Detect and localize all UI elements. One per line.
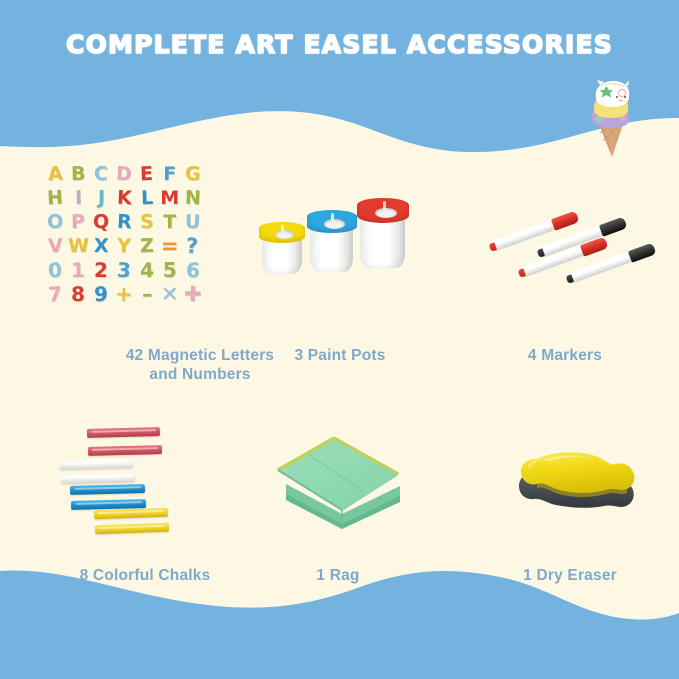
magnet-tile: ✚ xyxy=(183,283,201,306)
magnet-tile: A xyxy=(47,163,63,186)
magnet-tile: – xyxy=(141,283,152,305)
magnet-tile: 6 xyxy=(185,259,200,281)
magnet-tile: Y xyxy=(117,235,132,258)
magnet-tile: R xyxy=(116,211,132,234)
magnet-tile: 1 xyxy=(71,259,85,281)
magnetic-letters-grid: ABCDEFGHIJKLMNOPQRSTUVWXYZ=?0123456789+–… xyxy=(44,163,204,305)
chalk-yellow-1 xyxy=(94,508,168,520)
chalk-white-2 xyxy=(61,473,135,484)
magnet-tile: L xyxy=(140,187,153,209)
bottom-wave-background xyxy=(0,549,679,679)
magnet-tile: ✕ xyxy=(161,283,179,305)
magnet-tile: X xyxy=(94,235,109,257)
magnet-tile: = xyxy=(161,235,179,257)
magnet-tile: H xyxy=(47,187,64,210)
magnet-tile: B xyxy=(71,163,86,185)
caption-paint-pots: 3 Paint Pots xyxy=(240,346,440,365)
page-title: COMPLETE ART EASEL ACCESSORIES xyxy=(0,30,679,59)
magnet-tile: 9 xyxy=(94,283,108,305)
magnet-tile: 8 xyxy=(71,283,85,305)
magnet-tile: W xyxy=(68,235,89,257)
magnet-tile: I xyxy=(75,187,82,209)
magnet-tile: S xyxy=(140,211,154,233)
magnet-tile: E xyxy=(140,163,154,185)
magnet-tile: M xyxy=(160,187,179,209)
dry-eraser-icon xyxy=(516,443,636,521)
magnet-tile: G xyxy=(184,163,200,186)
magnet-tile: O xyxy=(47,211,64,234)
magnet-tile: ? xyxy=(186,235,199,257)
chalk-red-1 xyxy=(87,427,160,438)
magnet-tile: T xyxy=(163,211,176,233)
microfiber-cloth-icon xyxy=(268,430,408,530)
magnet-tile: Q xyxy=(93,211,110,233)
paint-pot-blue xyxy=(310,210,358,272)
magnet-tile: D xyxy=(116,163,133,186)
chalk-white-1 xyxy=(60,459,133,470)
magnet-tile: C xyxy=(94,163,108,185)
magnet-tile: P xyxy=(71,211,85,233)
magnet-tile: Z xyxy=(140,235,155,257)
magnet-tile: K xyxy=(116,187,132,210)
chalk-yellow-2 xyxy=(95,523,169,535)
chalk-red-2 xyxy=(88,445,162,456)
magnet-tile: 7 xyxy=(48,283,63,306)
magnet-tile: V xyxy=(47,235,63,258)
magnet-tile: 5 xyxy=(163,259,177,281)
caption-markers: 4 Markers xyxy=(460,346,670,365)
magnet-tile: U xyxy=(184,211,200,234)
magnet-tile: N xyxy=(184,187,201,210)
paint-pot-red xyxy=(360,198,410,268)
caption-line-2: and Numbers xyxy=(149,366,250,383)
magnet-tile: + xyxy=(115,283,134,306)
magnet-tile: 2 xyxy=(94,259,108,281)
magnet-tile: J xyxy=(97,187,104,209)
chalk-blue-1 xyxy=(70,484,145,495)
ice-cream-cone-icon xyxy=(576,78,646,158)
product-feature-graphic: COMPLETE ART EASEL ACCESSORIES ABCDEFGHI… xyxy=(0,0,679,679)
paint-pot-yellow xyxy=(262,222,306,274)
magnet-tile: 0 xyxy=(48,259,63,282)
magnet-tile: F xyxy=(163,163,176,185)
magnet-tile: 3 xyxy=(116,259,131,282)
magnet-tile: 4 xyxy=(140,259,155,281)
